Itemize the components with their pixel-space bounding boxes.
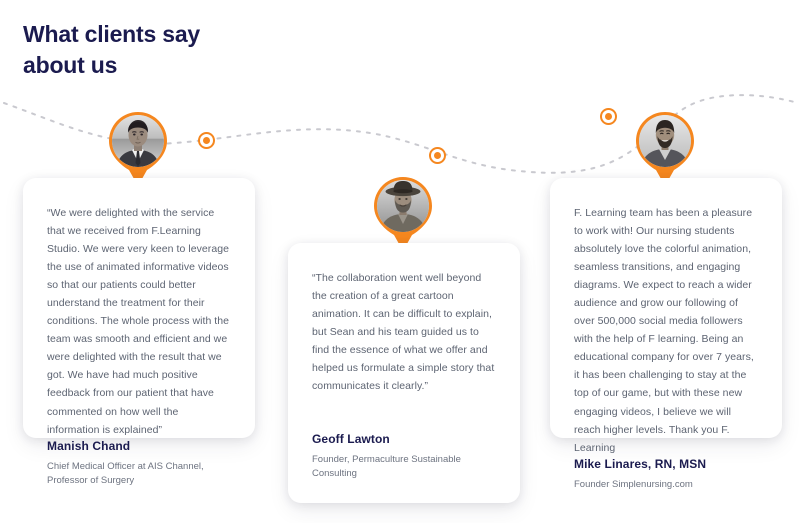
avatar-photo	[639, 115, 691, 167]
testimonial-quote: “The collaboration went well beyond the …	[312, 269, 496, 395]
avatar-photo	[112, 115, 164, 167]
testimonial-card: F. Learning team has been a pleasure to …	[550, 178, 782, 438]
testimonial-role: Chief Medical Officer at AIS Channel, Pr…	[47, 460, 231, 489]
avatar-photo	[377, 180, 429, 232]
testimonial-card: “We were delighted with the service that…	[23, 178, 255, 438]
testimonial-card: “The collaboration went well beyond the …	[288, 243, 520, 503]
avatar-geoff-lawton	[372, 175, 434, 253]
testimonial-author: Geoff Lawton	[312, 432, 496, 446]
testimonial-footer: Mike Linares, RN, MSN Founder Simplenurs…	[574, 457, 758, 492]
testimonial-footer: Geoff Lawton Founder, Permaculture Susta…	[312, 432, 496, 482]
testimonial-author: Manish Chand	[47, 439, 231, 453]
testimonial-quote: F. Learning team has been a pleasure to …	[574, 204, 758, 457]
page-title: What clients say about us	[23, 19, 343, 80]
timeline-dot-icon	[600, 108, 617, 125]
avatar-manish-chand	[107, 110, 169, 188]
testimonial-role: Founder Simplenursing.com	[574, 478, 758, 492]
timeline-dot-icon	[198, 132, 215, 149]
timeline-dot-icon	[429, 147, 446, 164]
testimonial-author: Mike Linares, RN, MSN	[574, 457, 758, 471]
avatar-mike-linares	[634, 110, 696, 188]
testimonial-role: Founder, Permaculture Sustainable Consul…	[312, 453, 496, 482]
testimonial-footer: Manish Chand Chief Medical Officer at AI…	[47, 439, 231, 489]
testimonial-quote: “We were delighted with the service that…	[47, 204, 231, 439]
testimonials-section: What clients say about us	[0, 0, 800, 523]
